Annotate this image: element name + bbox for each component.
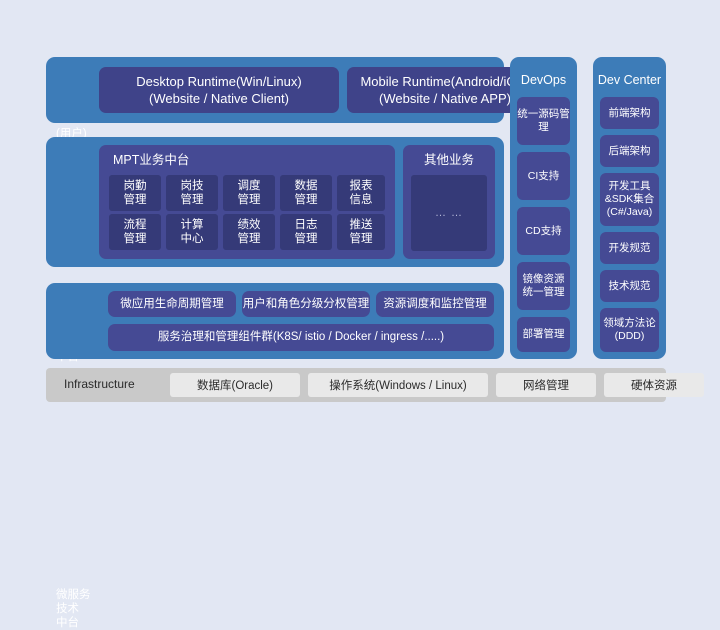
infrastructure-item-database[interactable]: 数据库(Oracle) [170,373,300,397]
infrastructure-title: Infrastructure [64,377,135,391]
infrastructure-item-hardware[interactable]: 硬体资源 [604,373,704,397]
infrastructure-item-network[interactable]: 网络管理 [496,373,596,397]
dev-center-item-tech-standards[interactable]: 技术规范 [600,270,659,302]
dev-center-item-dev-standards[interactable]: 开发规范 [600,232,659,264]
mpt-cell-9[interactable]: 日志 管理 [280,214,332,250]
mpt-cell-1[interactable]: 岗勤 管理 [109,175,161,211]
dev-center-item-tools-sdk[interactable]: 开发工具 &SDK集合 (C#/Java) [600,173,659,226]
other-business-title: 其他业务 [403,152,495,168]
mpt-cell-8[interactable]: 绩效 管理 [223,214,275,250]
mpt-business-subpanel: MPT业务中台 岗勤 管理 岗技 管理 调度 管理 数据 管理 报表 信息 流程… [99,145,395,259]
devops-title: DevOps [510,73,577,87]
devops-item-deployment[interactable]: 部署管理 [517,317,570,352]
tech-middle-platform-row-label: 微服务 技术 中台 [56,588,91,630]
mpt-cell-7[interactable]: 计算 中心 [166,214,218,250]
mpt-cell-6[interactable]: 流程 管理 [109,214,161,250]
devops-item-cd[interactable]: CD支持 [517,207,570,255]
dev-center-item-frontend-arch[interactable]: 前端架构 [600,97,659,129]
infrastructure-bar: Infrastructure 数据库(Oracle) 操作系统(Windows … [46,368,666,402]
architecture-diagram: (用户) 业务 前台 Desktop Runtime(Win/Linux) (W… [0,0,720,468]
tech-card-user-role[interactable]: 用户和角色分级分权管理 [242,291,370,317]
dev-center-item-backend-arch[interactable]: 后端架构 [600,135,659,167]
mpt-cell-5[interactable]: 报表 信息 [337,175,385,211]
devops-item-ci[interactable]: CI支持 [517,152,570,200]
tech-card-service-governance[interactable]: 服务治理和管理组件群(K8S/ istio / Docker / ingress… [108,324,494,351]
other-business-placeholder: … … [411,175,487,251]
desktop-runtime-card[interactable]: Desktop Runtime(Win/Linux) (Website / Na… [99,67,339,113]
tech-middle-platform-panel: 微服务 技术 中台 微应用生命周期管理 用户和角色分级分权管理 资源调度和监控管… [46,283,504,359]
mpt-cell-4[interactable]: 数据 管理 [280,175,332,211]
dev-center-item-ddd[interactable]: 领域方法论 (DDD) [600,308,659,352]
business-middle-platform-panel: (微服务) 业务 中台 MPT业务中台 岗勤 管理 岗技 管理 调度 管理 数据… [46,137,504,267]
devops-panel: DevOps 统一源码管理 CI支持 CD支持 镜像资源 统一管理 部署管理 [510,57,577,359]
dev-center-title: Dev Center [593,73,666,87]
tech-card-resource-monitor[interactable]: 资源调度和监控管理 [376,291,494,317]
tech-card-app-lifecycle[interactable]: 微应用生命周期管理 [108,291,236,317]
front-office-panel: (用户) 业务 前台 Desktop Runtime(Win/Linux) (W… [46,57,504,123]
mpt-cell-3[interactable]: 调度 管理 [223,175,275,211]
dev-center-panel: Dev Center 前端架构 后端架构 开发工具 &SDK集合 (C#/Jav… [593,57,666,359]
other-business-subpanel: 其他业务 … … [403,145,495,259]
mpt-cell-2[interactable]: 岗技 管理 [166,175,218,211]
devops-item-image-registry[interactable]: 镜像资源 统一管理 [517,262,570,310]
infrastructure-item-os[interactable]: 操作系统(Windows / Linux) [308,373,488,397]
mpt-business-title: MPT业务中台 [113,152,189,168]
mpt-cell-10[interactable]: 推送 管理 [337,214,385,250]
devops-item-source-control[interactable]: 统一源码管理 [517,97,570,145]
